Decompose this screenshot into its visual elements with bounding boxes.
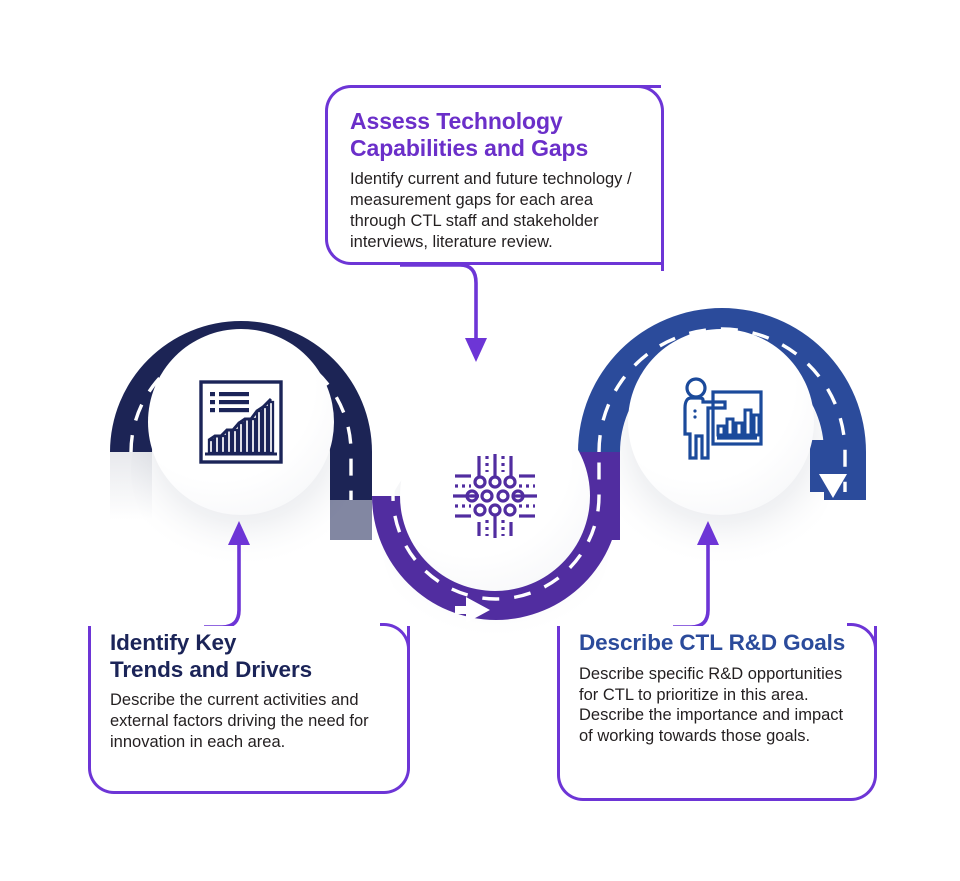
connector-arrow-assess-icon: [465, 338, 487, 362]
circuit-chip-icon: [449, 450, 541, 542]
card-assess-technology[interactable]: Assess Technology Capabilities and Gaps …: [325, 85, 661, 265]
growth-chart-report-icon: [193, 374, 289, 470]
card-assess-body: Identify current and future technology /…: [350, 169, 641, 253]
node-identify-key-trends[interactable]: [148, 329, 334, 515]
road-arrow-bottom-middle-icon: [466, 597, 490, 623]
card-identify-title: Identify Key Trends and Drivers: [110, 630, 389, 683]
card-describe-ctl-rd-goals[interactable]: Describe CTL R&D Goals Describe specific…: [557, 626, 877, 801]
road-arc-left-shadow: [110, 452, 152, 520]
infographic-stage: Assess Technology Capabilities and Gaps …: [0, 0, 960, 881]
road-arrow-end-right-icon: [819, 474, 847, 498]
connector-describe-line: [673, 543, 708, 627]
road-arc-left-inner-shadow: [330, 452, 372, 540]
road-segment-left-descend: [330, 452, 372, 500]
card-assess-title: Assess Technology Capabilities and Gaps: [350, 108, 641, 162]
connector-arrow-identify-icon: [228, 521, 250, 545]
connector-assess-line: [400, 265, 476, 340]
road-arrow-top-right-icon: [710, 267, 734, 295]
card-identify-body: Describe the current activities and exte…: [110, 690, 389, 753]
road-arc-right-inner-shadow: [824, 452, 866, 496]
card-identify-key-trends[interactable]: Identify Key Trends and Drivers Describe…: [88, 626, 410, 794]
card-describe-title: Describe CTL R&D Goals: [579, 630, 856, 657]
connector-identify-line: [204, 543, 239, 627]
connector-arrow-describe-icon: [697, 521, 719, 545]
card-describe-body: Describe specific R&D opportunities for …: [579, 664, 856, 748]
presenter-bar-chart-icon: [673, 374, 769, 470]
node-assess-technology[interactable]: [400, 401, 590, 591]
road-arrow-top-left-icon: [229, 267, 253, 295]
road-tail-right: [810, 440, 852, 492]
node-describe-ctl-rd-goals[interactable]: [628, 329, 814, 515]
